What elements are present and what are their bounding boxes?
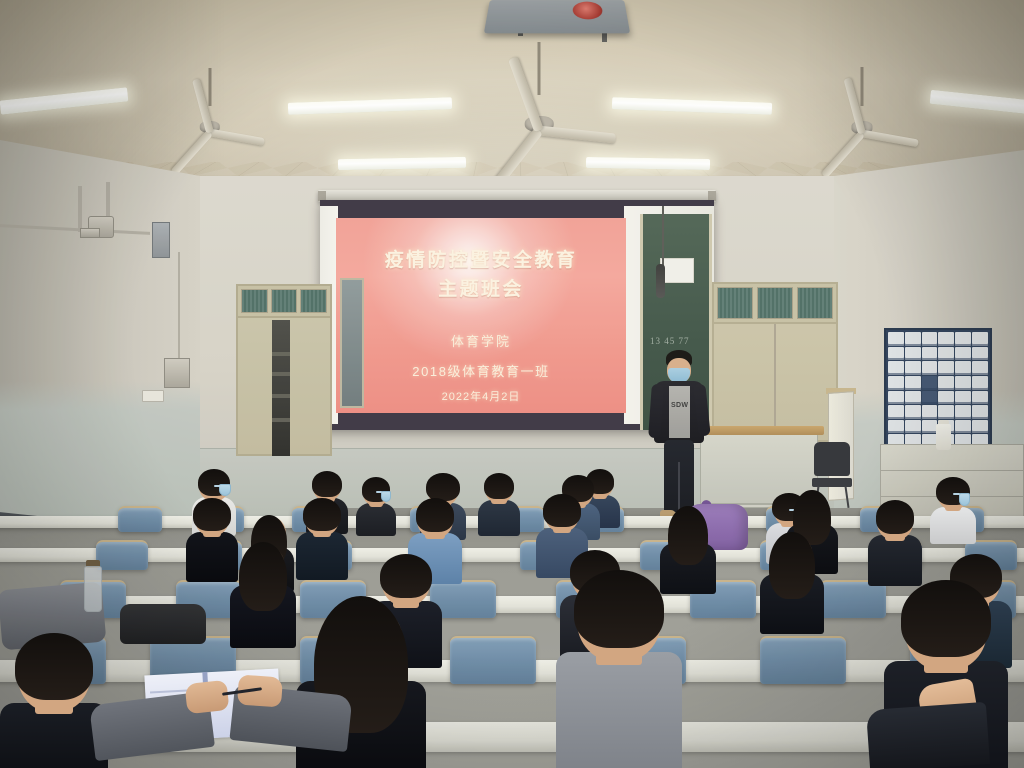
student-hand-left [185, 680, 230, 714]
foreground-layer [0, 0, 1024, 768]
student-sleeve-dark [866, 702, 990, 768]
classroom-scene: 疫情防控暨安全教育 主题班会 体育学院 2018级体育教育一班 2022年4月2… [0, 0, 1024, 768]
